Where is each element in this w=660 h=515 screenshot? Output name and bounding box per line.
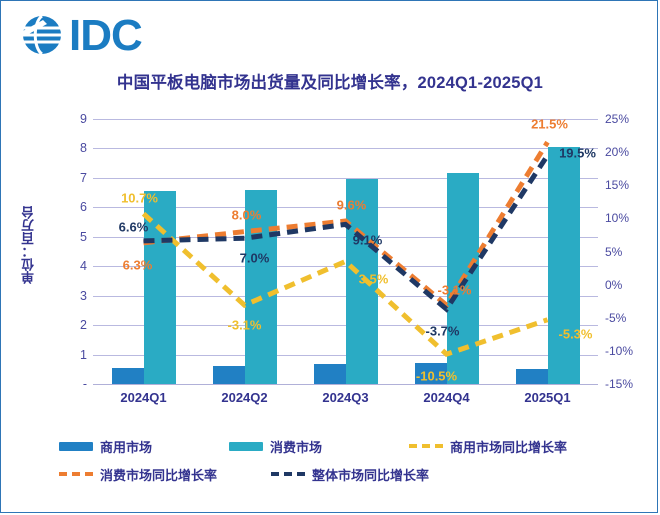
left-axis-tick: 4: [80, 259, 87, 273]
left-axis-tick: 3: [80, 289, 87, 303]
bar-commercial: [112, 368, 144, 384]
x-axis-label: 2024Q4: [423, 390, 469, 405]
right-axis-tick: 25%: [605, 112, 629, 126]
legend-marker: [271, 472, 305, 476]
left-axis-tick: 8: [80, 141, 87, 155]
right-axis-ticks: 25%20%15%10%5%0%-5%-10%-15%: [605, 113, 653, 393]
svg-text:IDC: IDC: [69, 11, 142, 60]
right-axis-tick: 20%: [605, 145, 629, 159]
data-label: 8.0%: [232, 207, 262, 222]
data-label: 9.1%: [353, 233, 383, 248]
data-label: 3.5%: [359, 272, 389, 287]
data-label: 6.3%: [123, 257, 153, 272]
x-axis-label: 2025Q1: [524, 390, 570, 405]
left-axis-tick: 9: [80, 112, 87, 126]
bar-commercial: [516, 369, 548, 384]
legend-label: 商用市场同比增长率: [450, 437, 567, 456]
left-axis-ticks: 987654321-: [53, 113, 87, 393]
right-axis-tick: -5%: [605, 311, 626, 325]
x-axis-label: 2024Q2: [221, 390, 267, 405]
legend-label: 消费市场: [270, 437, 322, 456]
page-title: 中国平板电脑市场出货量及同比增长率，2024Q1-2025Q1: [1, 69, 658, 93]
data-label: -3.1%: [228, 318, 262, 333]
right-axis-tick: 0%: [605, 278, 622, 292]
legend-item[interactable]: 商用市场: [59, 437, 152, 456]
gridline: [93, 119, 598, 120]
legend-marker: [409, 444, 443, 448]
gridline: [93, 384, 598, 385]
legend-label: 消费市场同比增长率: [100, 465, 217, 484]
data-label: 19.5%: [559, 146, 596, 161]
x-axis-labels: 2024Q12024Q22024Q32024Q42025Q1: [93, 390, 598, 412]
left-axis-tick: 7: [80, 171, 87, 185]
right-axis-tick: 5%: [605, 245, 622, 259]
data-label: -3.7%: [426, 324, 460, 339]
left-axis-tick: 2: [80, 318, 87, 332]
legend-item[interactable]: 消费市场同比增长率: [59, 465, 217, 484]
left-axis-tick: 1: [80, 348, 87, 362]
left-axis-tick: 5: [80, 230, 87, 244]
legend-marker: [59, 472, 93, 476]
right-axis-tick: -10%: [605, 344, 633, 358]
legend-label: 整体市场同比增长率: [312, 465, 429, 484]
data-label: 7.0%: [240, 251, 270, 266]
legend-marker: [59, 442, 93, 451]
left-axis-tick: -: [83, 377, 87, 391]
right-axis-tick: 10%: [605, 211, 629, 225]
plot-area: [93, 119, 598, 384]
data-label: 10.7%: [121, 190, 158, 205]
bar-commercial: [314, 364, 346, 384]
data-label: 9.6%: [337, 198, 367, 213]
y-axis-unit-label: 单位：百万台: [19, 206, 38, 284]
legend-label: 商用市场: [100, 437, 152, 456]
legend-item[interactable]: 整体市场同比增长率: [271, 465, 429, 484]
bar-consumer: [548, 147, 580, 384]
left-axis-tick: 6: [80, 200, 87, 214]
legend-marker: [229, 442, 263, 451]
legend-item[interactable]: 商用市场同比增长率: [409, 437, 567, 456]
data-label: 6.6%: [119, 219, 149, 234]
bar-consumer: [447, 173, 479, 384]
chart-frame: IDC 中国平板电脑市场出货量及同比增长率，2024Q1-2025Q1 单位：百…: [0, 0, 658, 513]
legend-item[interactable]: 消费市场: [229, 437, 322, 456]
gridline: [93, 148, 598, 149]
data-label: -3.1%: [438, 283, 472, 298]
idc-logo: IDC: [17, 10, 177, 60]
right-axis-tick: -15%: [605, 377, 633, 391]
data-label: 21.5%: [531, 117, 568, 132]
data-label: -10.5%: [416, 369, 457, 384]
bar-commercial: [213, 366, 245, 384]
data-label: -5.3%: [559, 326, 593, 341]
right-axis-tick: 15%: [605, 178, 629, 192]
globe-icon: [21, 16, 61, 54]
chart-legend: 商用市场消费市场商用市场同比增长率 消费市场同比增长率整体市场同比增长率: [59, 433, 619, 495]
x-axis-label: 2024Q1: [120, 390, 166, 405]
x-axis-label: 2024Q3: [322, 390, 368, 405]
